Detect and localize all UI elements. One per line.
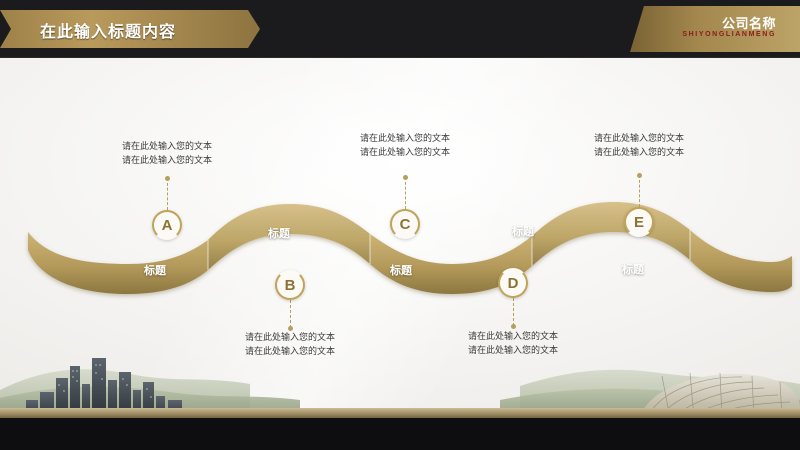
node-callout-c-line2: 请在此处输入您的文本 [300, 145, 510, 159]
node-marker-a[interactable]: A [152, 210, 182, 240]
company-subtitle: SHIYONGLIANMENG [682, 31, 776, 38]
node-callout-a-line2: 请在此处输入您的文本 [62, 153, 272, 167]
ribbon-label-5: 标题 [622, 261, 644, 277]
node-callout-a-line1: 请在此处输入您的文本 [62, 139, 272, 153]
node-callout-e-line1: 请在此处输入您的文本 [534, 131, 744, 145]
node-marker-e[interactable]: E [624, 207, 654, 237]
ribbon-segment-1 [28, 232, 208, 294]
node-callout-b: 请在此处输入您的文本 请在此处输入您的文本 [185, 330, 395, 358]
node-dot-a [165, 176, 170, 181]
node-stem-c [405, 177, 406, 209]
footer-bar [0, 418, 800, 450]
ribbon-segment-5 [690, 230, 792, 292]
ribbon-label-3: 标题 [390, 262, 412, 278]
slide-header: 在此输入标题内容 公司名称 SHIYONGLIANMENG [0, 0, 800, 58]
node-callout-c: 请在此处输入您的文本 请在此处输入您的文本 [300, 131, 510, 159]
page-title: 在此输入标题内容 [40, 18, 176, 42]
node-callout-a: 请在此处输入您的文本 请在此处输入您的文本 [62, 139, 272, 167]
node-stem-d [513, 298, 514, 326]
slide-canvas: 标题 标题 标题 标题 标题 A 请在此处输入您的文本 请在此处输入您的文本 B… [0, 0, 800, 450]
node-dot-c [403, 175, 408, 180]
node-callout-d-line2: 请在此处输入您的文本 [408, 343, 618, 357]
node-dot-e [637, 173, 642, 178]
node-callout-b-line2: 请在此处输入您的文本 [185, 344, 395, 358]
node-marker-b[interactable]: B [275, 270, 305, 300]
node-callout-b-line1: 请在此处输入您的文本 [185, 330, 395, 344]
gold-shelf-bar [0, 408, 800, 418]
ribbon-label-4: 标题 [512, 223, 534, 239]
node-marker-c[interactable]: C [390, 209, 420, 239]
node-callout-d: 请在此处输入您的文本 请在此处输入您的文本 [408, 329, 618, 357]
ribbon-label-2: 标题 [268, 225, 290, 241]
company-name: 公司名称 [722, 13, 776, 32]
ribbon-segment-4 [532, 202, 690, 266]
node-marker-d[interactable]: D [498, 268, 528, 298]
node-callout-c-line1: 请在此处输入您的文本 [300, 131, 510, 145]
node-stem-e [639, 175, 640, 207]
node-callout-e: 请在此处输入您的文本 请在此处输入您的文本 [534, 131, 744, 159]
ribbon-label-1: 标题 [144, 262, 166, 278]
node-callout-d-line1: 请在此处输入您的文本 [408, 329, 618, 343]
node-stem-b [290, 300, 291, 328]
node-stem-a [167, 178, 168, 210]
node-callout-e-line2: 请在此处输入您的文本 [534, 145, 744, 159]
